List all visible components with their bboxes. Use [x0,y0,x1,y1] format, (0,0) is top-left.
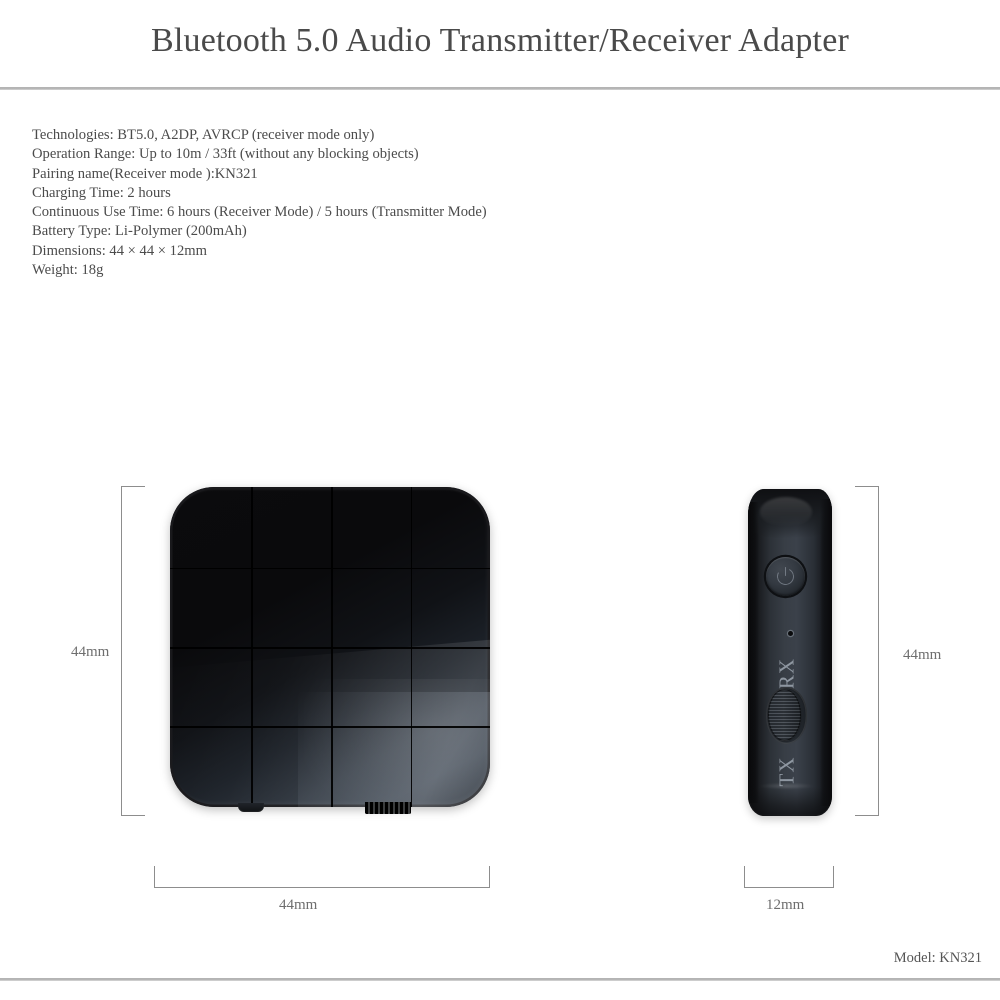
usb-port-contacts [365,802,411,814]
front-gloss-highlight [170,637,490,807]
power-icon [777,568,794,585]
switch-label-tx: TX [775,750,800,794]
audio-jack-port [238,803,264,812]
front-corner-highlight [304,679,490,807]
footer-divider [0,978,1000,981]
front-grid-line-horizontal-1 [170,568,490,570]
side-left-edge-shadow [748,502,759,803]
dimension-label-side-width: 12mm [766,897,804,914]
dimension-label-side-height: 44mm [903,647,941,664]
front-grid-line-vertical-3 [411,487,413,807]
dimension-label-front-width: 44mm [279,897,317,914]
dimension-bracket-front-width [154,866,490,888]
front-grid-line-vertical-2 [331,487,333,807]
dimension-bracket-side-height [855,486,879,816]
front-body [170,487,490,807]
front-grid-line-horizontal-3 [170,726,490,728]
front-grid-line-horizontal-2 [170,647,490,649]
product-front-view [170,487,490,807]
status-led-indicator [788,631,793,636]
mode-switch[interactable] [766,687,807,744]
dimension-bracket-side-width [744,866,834,888]
front-grid-line-vertical-1 [251,487,253,807]
front-panel-light-catch [298,692,490,807]
mode-switch-knob[interactable] [768,689,801,741]
product-illustration: RX TX 44mm 44mm 44mm [0,0,1000,1000]
product-spec-page: Bluetooth 5.0 Audio Transmitter/Receiver… [0,0,1000,1000]
power-button[interactable] [766,557,805,596]
side-top-sheen [760,497,812,526]
dimension-label-front-height: 44mm [71,644,109,661]
product-side-view: RX TX [748,489,832,816]
side-right-edge-shadow [820,499,832,806]
dimension-bracket-front-height [121,486,145,816]
model-number: Model: KN321 [894,950,982,967]
